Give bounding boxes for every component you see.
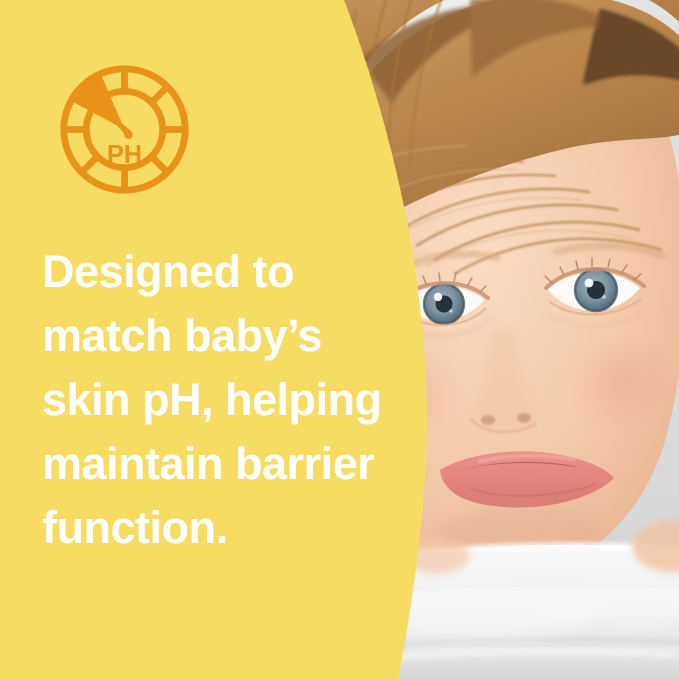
headline-text: Designed to match baby’s skin pH, helpin…: [42, 240, 412, 560]
ph-gauge-label: PH: [107, 141, 142, 169]
ph-gauge-icon: PH: [56, 61, 193, 198]
product-feature-card: PH Designed to match baby’s skin pH, hel…: [0, 0, 679, 679]
